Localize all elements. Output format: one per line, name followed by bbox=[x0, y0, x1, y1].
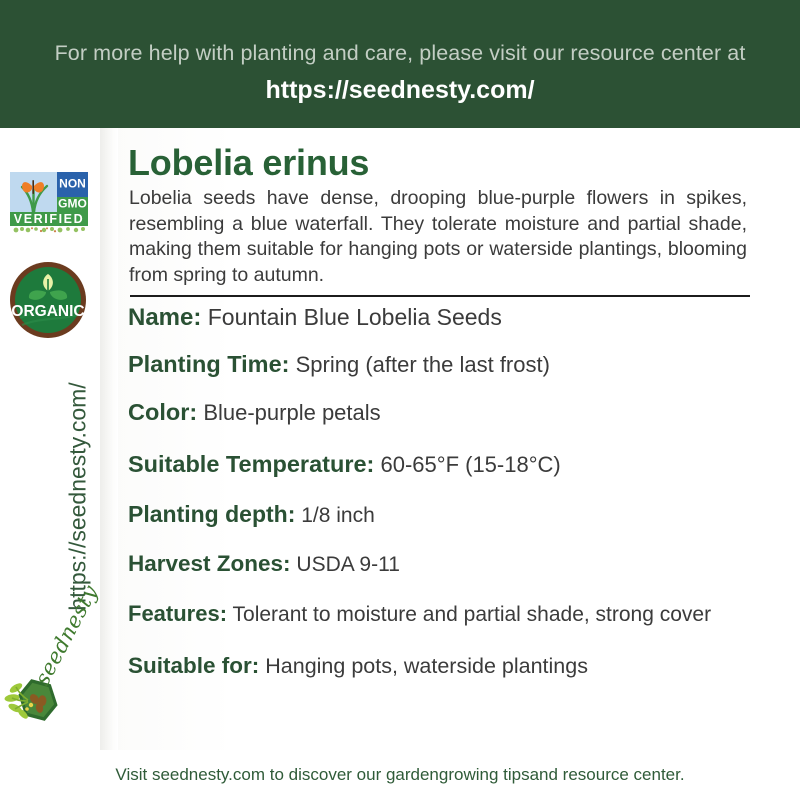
svg-text:GMO: GMO bbox=[58, 197, 87, 211]
spec-value: Spring (after the last frost) bbox=[296, 352, 550, 377]
spec-value: Hanging pots, waterside plantings bbox=[265, 654, 588, 678]
spec-label: Suitable for: bbox=[128, 653, 259, 678]
spec-label: Planting depth: bbox=[128, 501, 295, 527]
organic-badge-label: ORGANIC bbox=[11, 303, 84, 320]
spec-row-planting-depth: Planting depth: 1/8 inch bbox=[128, 503, 800, 526]
header-website-url[interactable]: https://seednesty.com/ bbox=[265, 76, 534, 105]
svg-text:NON: NON bbox=[59, 177, 86, 191]
spec-row-harvest-zones: Harvest Zones: USDA 9-11 bbox=[128, 553, 800, 576]
spec-value: Tolerant to moisture and partial shade, … bbox=[233, 603, 712, 626]
spec-list: Name: Fountain Blue Lobelia Seeds Planti… bbox=[128, 306, 800, 678]
header-banner: For more help with planting and care, pl… bbox=[0, 0, 800, 128]
header-help-text: For more help with planting and care, pl… bbox=[55, 41, 746, 67]
spec-value: Fountain Blue Lobelia Seeds bbox=[208, 304, 502, 330]
organic-badge-icon: ORGANIC bbox=[8, 260, 88, 340]
footer: Visit seednesty.com to discover our gard… bbox=[0, 750, 800, 800]
spec-value: USDA 9-11 bbox=[296, 553, 400, 576]
spec-value: 60-65°F (15-18°C) bbox=[381, 452, 561, 477]
main-content: Lobelia erinus Lobelia seeds have dense,… bbox=[128, 128, 788, 750]
spec-label: Suitable Temperature: bbox=[128, 451, 374, 477]
footer-text: Visit seednesty.com to discover our gard… bbox=[115, 765, 684, 785]
seednesty-logo: seednesty bbox=[4, 656, 96, 748]
spec-label: Planting Time: bbox=[128, 351, 289, 377]
svg-text:VERIFIED: VERIFIED bbox=[14, 212, 84, 226]
spec-value: 1/8 inch bbox=[301, 504, 375, 527]
spec-label: Color: bbox=[128, 399, 197, 425]
non-gmo-verified-icon: NON GMO VERIFIED bbox=[10, 172, 88, 234]
seed-packet-label: For more help with planting and care, pl… bbox=[0, 0, 800, 800]
spec-value: Blue-purple petals bbox=[203, 400, 380, 425]
spec-row-color: Color: Blue-purple petals bbox=[128, 401, 800, 425]
spec-label: Harvest Zones: bbox=[128, 551, 291, 576]
spec-row-suitable-for: Suitable for: Hanging pots, waterside pl… bbox=[128, 655, 800, 678]
spec-label: Features: bbox=[128, 601, 227, 626]
page-title: Lobelia erinus bbox=[128, 142, 369, 184]
spec-label: Name: bbox=[128, 304, 201, 331]
sidebar: NON GMO VERIFIED bbox=[0, 128, 100, 750]
spec-row-planting-time: Planting Time: Spring (after the last fr… bbox=[128, 353, 800, 377]
body-area: NON GMO VERIFIED bbox=[0, 128, 800, 750]
spec-row-name: Name: Fountain Blue Lobelia Seeds bbox=[128, 306, 800, 330]
spec-row-features: Features: Tolerant to moisture and parti… bbox=[128, 603, 800, 625]
plant-description: Lobelia seeds have dense, drooping blue-… bbox=[129, 186, 747, 289]
spec-row-suitable-temperature: Suitable Temperature: 60-65°F (15-18°C) bbox=[128, 453, 800, 477]
section-divider bbox=[130, 295, 750, 297]
